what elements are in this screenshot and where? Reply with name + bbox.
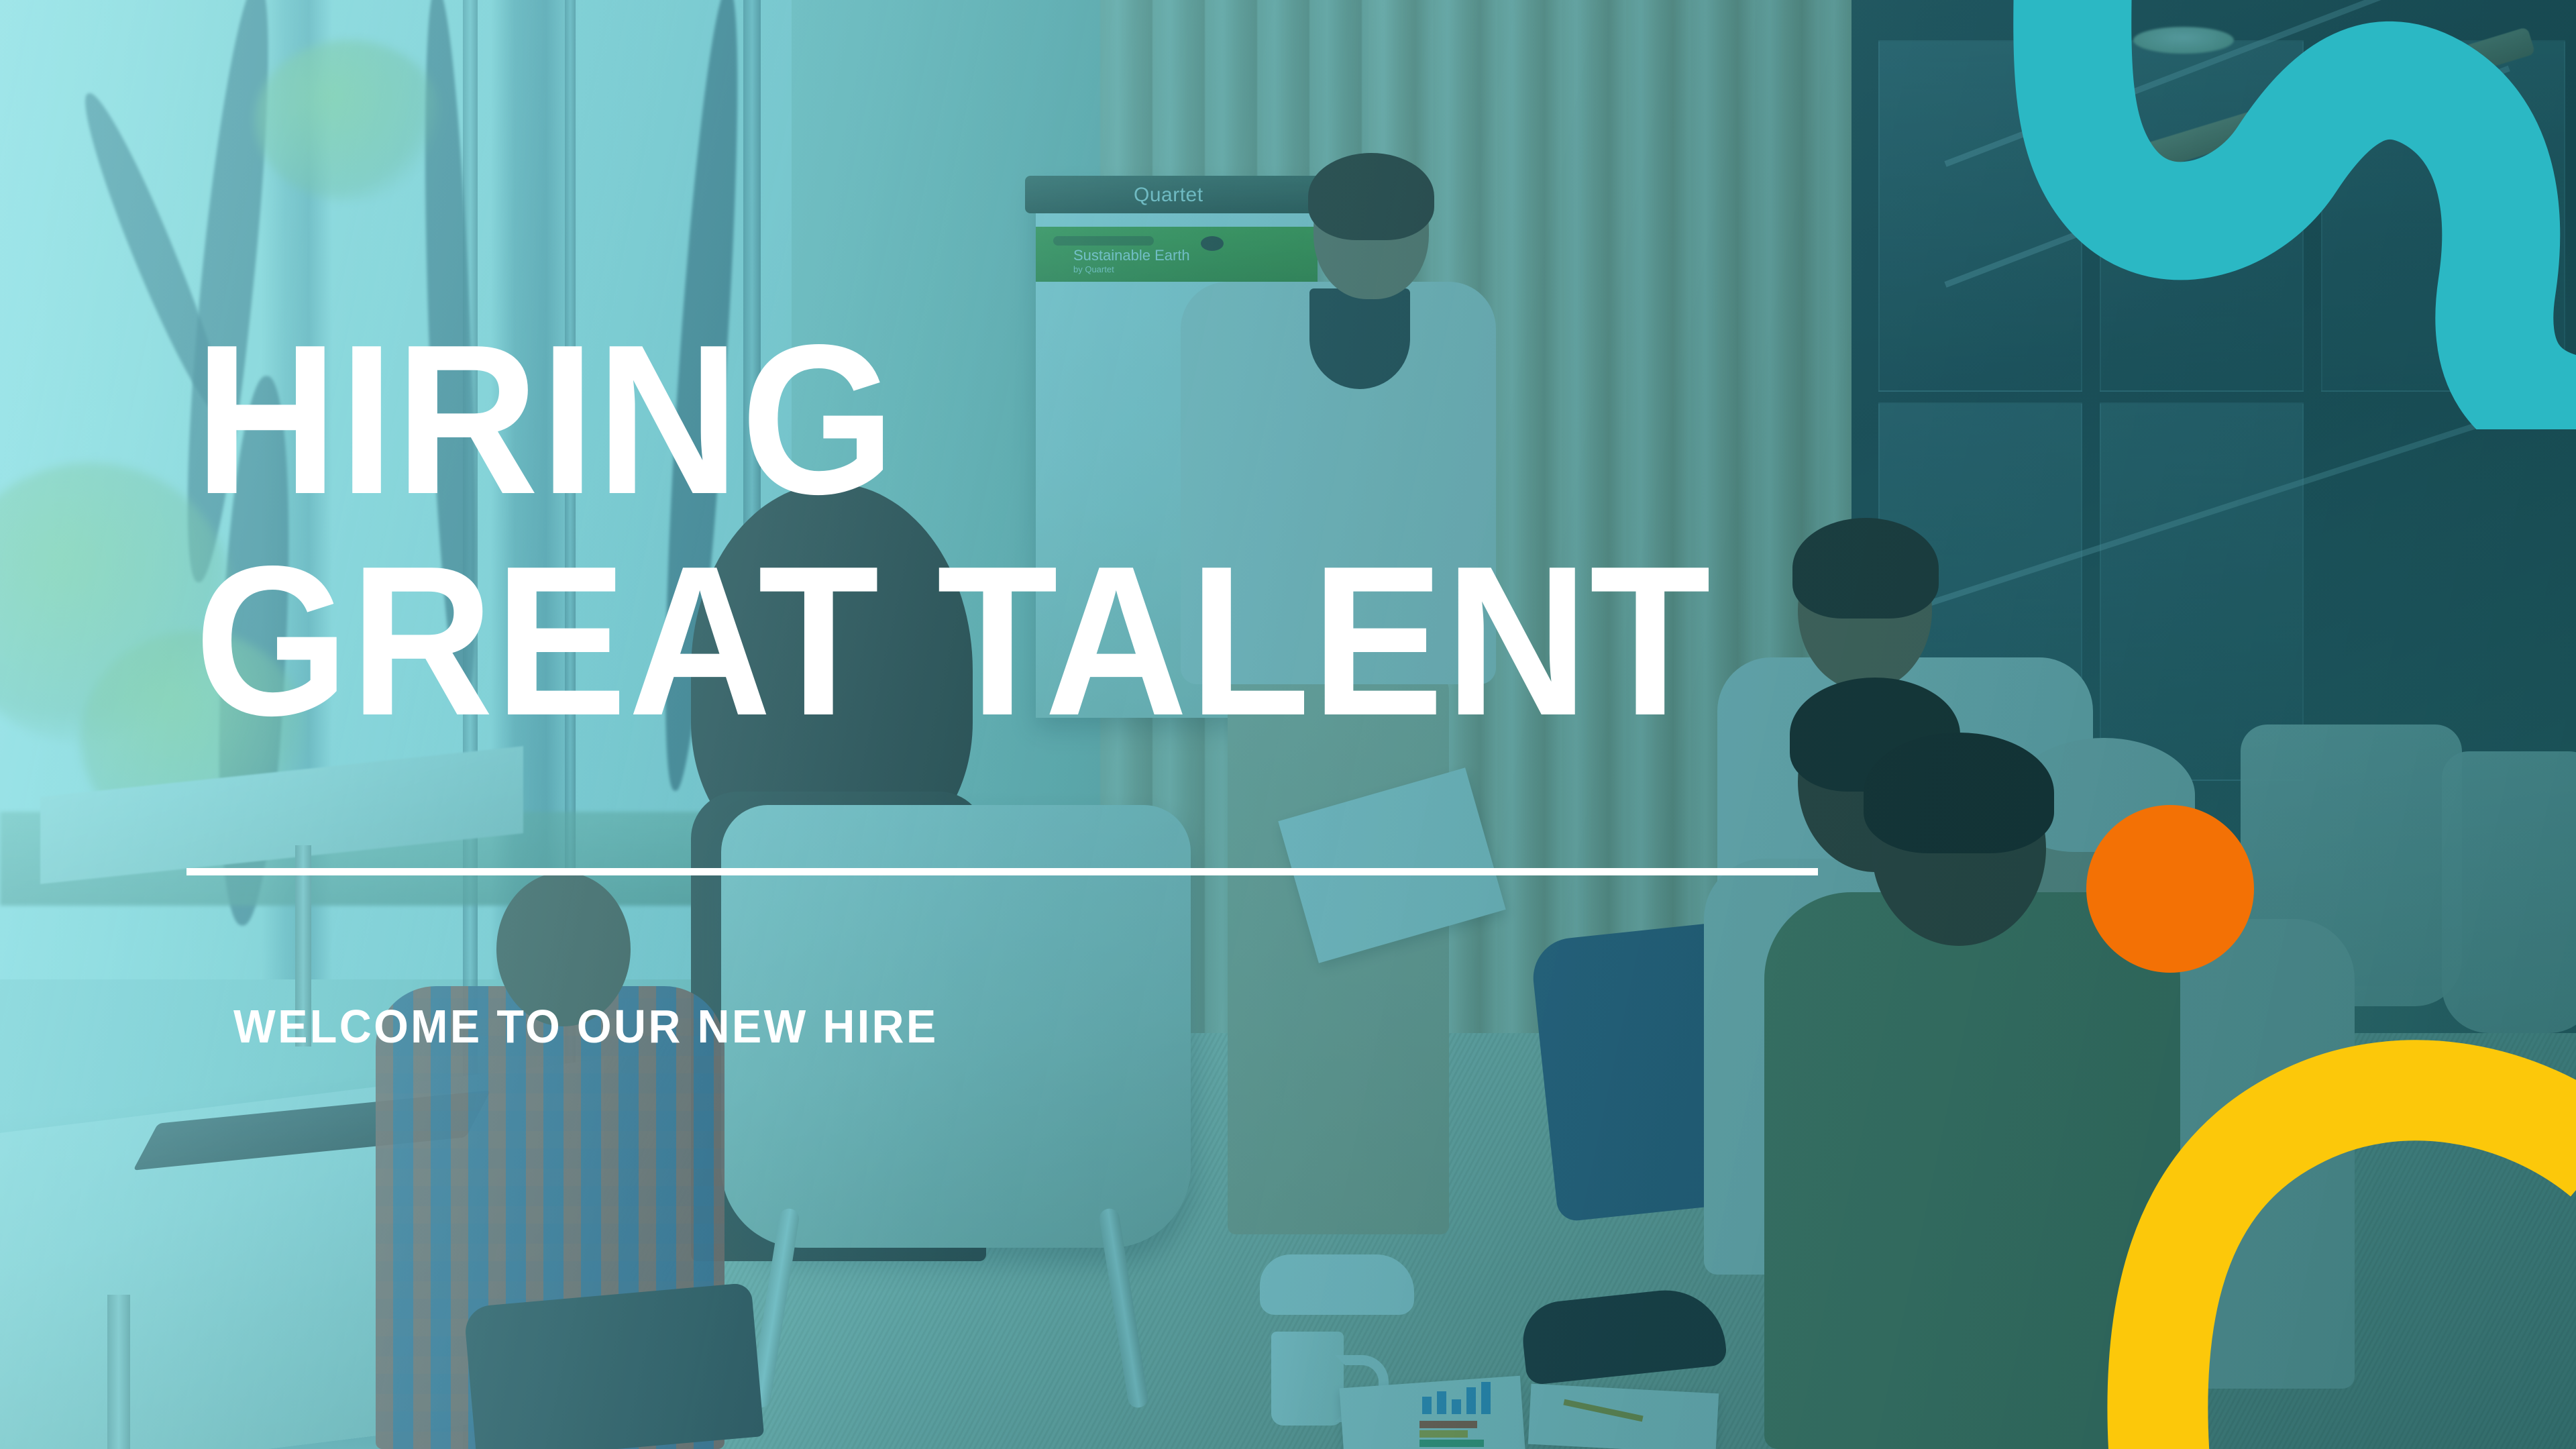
poster-title-line-1: HIRING [195,322,896,519]
poster-subtitle: WELCOME TO OUR NEW HIRE [233,1000,938,1053]
horizontal-rule-divider [186,868,1818,875]
poster-text-block: HIRING GREAT TALENT WELCOME TO OUR NEW H… [0,0,2576,1449]
poster-canvas: Quartet Sustainable Earth by Quartet [0,0,2576,1449]
poster-title-line-2: GREAT TALENT [195,543,1712,740]
